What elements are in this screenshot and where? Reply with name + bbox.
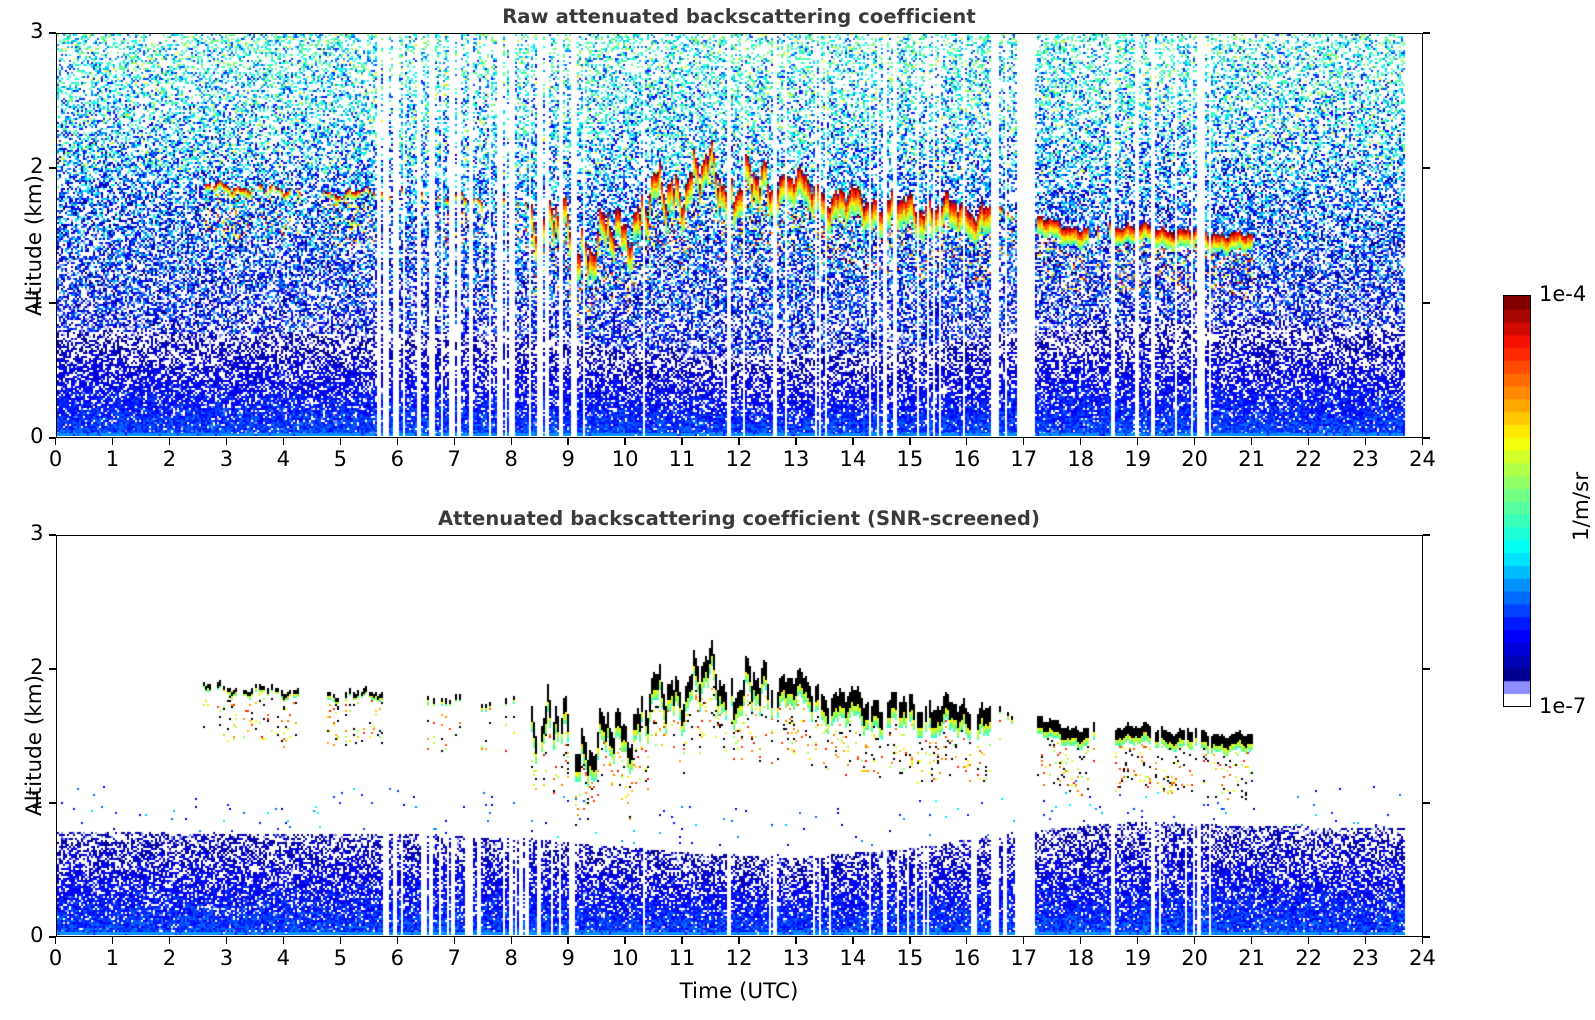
x-tick-label: 13 <box>766 946 826 970</box>
lidar-figure: Raw attenuated backscattering coefficien… <box>0 0 1595 1020</box>
x-tick <box>55 937 56 944</box>
y-tick <box>49 167 56 168</box>
x-tick-label: 3 <box>196 946 256 970</box>
x-tick <box>795 438 796 445</box>
x-tick-label: 22 <box>1279 447 1339 471</box>
x-tick-label: 7 <box>424 946 484 970</box>
x-tick <box>1365 937 1366 944</box>
x-tick <box>169 438 170 445</box>
y-tick <box>1423 167 1430 168</box>
x-tick-label: 22 <box>1279 946 1339 970</box>
x-tick <box>1194 937 1195 944</box>
x-tick-label: 20 <box>1165 447 1225 471</box>
x-tick-label: 10 <box>595 447 655 471</box>
colorbar-min-label: 1e-7 <box>1539 694 1586 718</box>
x-tick-label: 4 <box>253 447 313 471</box>
x-tick <box>738 937 739 944</box>
y-tick <box>49 302 56 303</box>
x-tick-label: 2 <box>139 946 199 970</box>
y-tick <box>49 534 56 535</box>
x-tick <box>226 937 227 944</box>
x-tick-label: 4 <box>253 946 313 970</box>
colorbar[interactable] <box>1503 295 1531 707</box>
x-tick <box>1023 937 1024 944</box>
x-tick <box>340 937 341 944</box>
y-tick <box>49 802 56 803</box>
x-tick-label: 5 <box>310 946 370 970</box>
x-tick-label: 0 <box>26 946 86 970</box>
y-tick-label: 1 <box>4 789 44 813</box>
x-tick-label: 24 <box>1393 946 1453 970</box>
x-tick-label: 16 <box>937 447 997 471</box>
x-tick-label: 17 <box>994 946 1054 970</box>
x-tick-label: 18 <box>1051 447 1111 471</box>
x-tick <box>1251 438 1252 445</box>
y-tick <box>1423 534 1430 535</box>
x-tick <box>1137 937 1138 944</box>
y-tick <box>1423 302 1430 303</box>
y-tick <box>1423 936 1430 937</box>
x-axis-label: Time (UTC) <box>56 979 1423 1004</box>
x-tick <box>852 937 853 944</box>
x-tick-label: 10 <box>595 946 655 970</box>
x-tick <box>1422 438 1423 445</box>
x-tick-label: 23 <box>1336 447 1396 471</box>
x-tick <box>1251 937 1252 944</box>
x-tick <box>795 937 796 944</box>
x-tick-label: 11 <box>652 447 712 471</box>
x-tick-label: 15 <box>880 447 940 471</box>
x-tick <box>112 937 113 944</box>
y-tick-label: 2 <box>4 655 44 679</box>
x-tick <box>283 438 284 445</box>
x-tick-label: 1 <box>82 447 142 471</box>
x-tick <box>454 937 455 944</box>
x-tick <box>511 438 512 445</box>
x-tick <box>567 438 568 445</box>
x-tick <box>909 438 910 445</box>
x-tick <box>1308 937 1309 944</box>
plot-area-screened[interactable] <box>56 535 1423 937</box>
x-tick-label: 23 <box>1336 946 1396 970</box>
x-tick-label: 18 <box>1051 946 1111 970</box>
x-tick <box>169 937 170 944</box>
x-tick-label: 13 <box>766 447 826 471</box>
x-tick <box>340 438 341 445</box>
x-tick-label: 19 <box>1108 946 1168 970</box>
x-tick-label: 19 <box>1108 447 1168 471</box>
x-tick-label: 12 <box>709 946 769 970</box>
y-tick-label: 2 <box>4 154 44 178</box>
y-tick <box>49 668 56 669</box>
x-tick <box>909 937 910 944</box>
x-tick <box>1080 438 1081 445</box>
x-tick-label: 20 <box>1165 946 1225 970</box>
x-tick-label: 24 <box>1393 447 1453 471</box>
colorbar-max-label: 1e-4 <box>1539 282 1586 306</box>
y-tick-label: 3 <box>4 19 44 43</box>
y-tick-label: 0 <box>4 424 44 448</box>
x-tick <box>1080 937 1081 944</box>
panel-title-raw: Raw attenuated backscattering coefficien… <box>56 5 1423 28</box>
x-tick-label: 12 <box>709 447 769 471</box>
x-tick <box>852 438 853 445</box>
x-tick <box>1365 438 1366 445</box>
x-tick-label: 14 <box>823 447 883 471</box>
panel-title-screened: Attenuated backscattering coefficient (S… <box>56 507 1423 530</box>
x-tick <box>397 937 398 944</box>
x-tick <box>1422 937 1423 944</box>
x-tick-label: 15 <box>880 946 940 970</box>
x-tick-label: 3 <box>196 447 256 471</box>
x-tick-label: 9 <box>538 447 598 471</box>
x-tick <box>226 438 227 445</box>
x-tick-label: 8 <box>481 447 541 471</box>
x-tick-label: 11 <box>652 946 712 970</box>
x-tick-label: 6 <box>367 447 427 471</box>
y-tick <box>49 32 56 33</box>
y-tick-label: 1 <box>4 289 44 313</box>
x-tick <box>397 438 398 445</box>
x-tick <box>624 937 625 944</box>
x-tick-label: 7 <box>424 447 484 471</box>
x-tick-label: 1 <box>82 946 142 970</box>
x-tick <box>283 937 284 944</box>
plot-area-raw[interactable] <box>56 33 1423 438</box>
x-tick-label: 0 <box>26 447 86 471</box>
x-tick <box>624 438 625 445</box>
x-tick <box>1194 438 1195 445</box>
y-tick-label: 3 <box>4 521 44 545</box>
y-tick <box>1423 668 1430 669</box>
x-tick <box>966 937 967 944</box>
x-tick <box>511 937 512 944</box>
x-tick-label: 9 <box>538 946 598 970</box>
x-tick <box>567 937 568 944</box>
x-tick <box>1308 438 1309 445</box>
x-tick-label: 5 <box>310 447 370 471</box>
x-tick <box>1137 438 1138 445</box>
x-tick-label: 2 <box>139 447 199 471</box>
y-tick <box>1423 32 1430 33</box>
x-tick <box>966 438 967 445</box>
y-tick <box>1423 437 1430 438</box>
x-tick <box>681 937 682 944</box>
x-tick <box>738 438 739 445</box>
x-tick-label: 16 <box>937 946 997 970</box>
x-tick-label: 14 <box>823 946 883 970</box>
x-tick-label: 21 <box>1222 946 1282 970</box>
x-tick <box>1023 438 1024 445</box>
y-tick <box>1423 802 1430 803</box>
y-tick <box>49 936 56 937</box>
x-tick-label: 8 <box>481 946 541 970</box>
x-tick <box>55 438 56 445</box>
y-tick-label: 0 <box>4 923 44 947</box>
colorbar-unit-label: 1/m/sr <box>1569 472 1594 541</box>
x-tick-label: 6 <box>367 946 427 970</box>
x-tick <box>112 438 113 445</box>
x-tick-label: 17 <box>994 447 1054 471</box>
x-tick <box>681 438 682 445</box>
y-tick <box>49 437 56 438</box>
x-tick <box>454 438 455 445</box>
x-tick-label: 21 <box>1222 447 1282 471</box>
